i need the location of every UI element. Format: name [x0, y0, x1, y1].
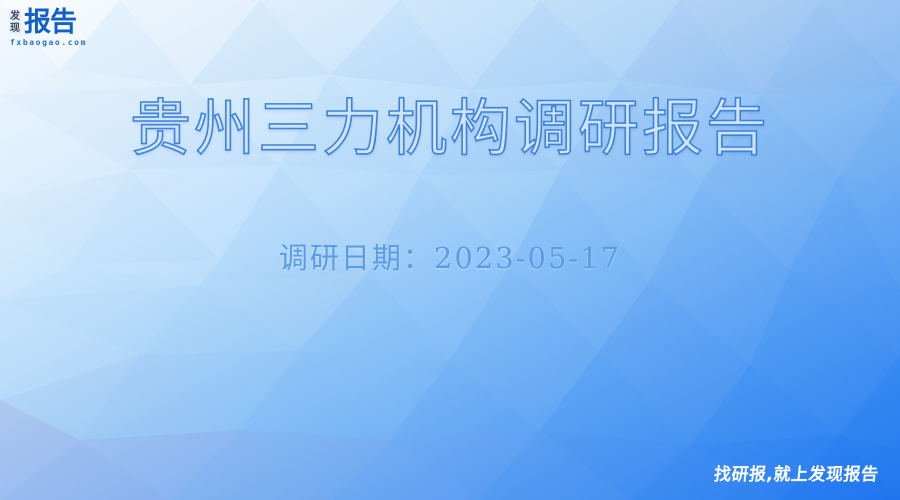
fxbaogao-logo[interactable]: 发 现 报告 fxbaogao.com: [9, 9, 87, 47]
logo-wordmark: 发 现 报告: [9, 9, 76, 36]
logo-stacked-bottom: 现: [9, 23, 21, 34]
logo-url: fxbaogao.com: [10, 38, 87, 47]
survey-date-subtitle: 调研日期：2023-05-17: [0, 239, 900, 277]
logo-stacked-characters: 发 现: [9, 11, 21, 36]
report-cover-slide: 发 现 报告 fxbaogao.com 贵州三力机构调研报告 调研日期：2023…: [0, 0, 900, 500]
page-title: 贵州三力机构调研报告: [0, 93, 900, 165]
logo-stacked-top: 发: [9, 11, 21, 22]
brand-tagline: 找研报,就上发现报告: [712, 464, 879, 486]
logo-main-text: 报告: [24, 9, 76, 36]
